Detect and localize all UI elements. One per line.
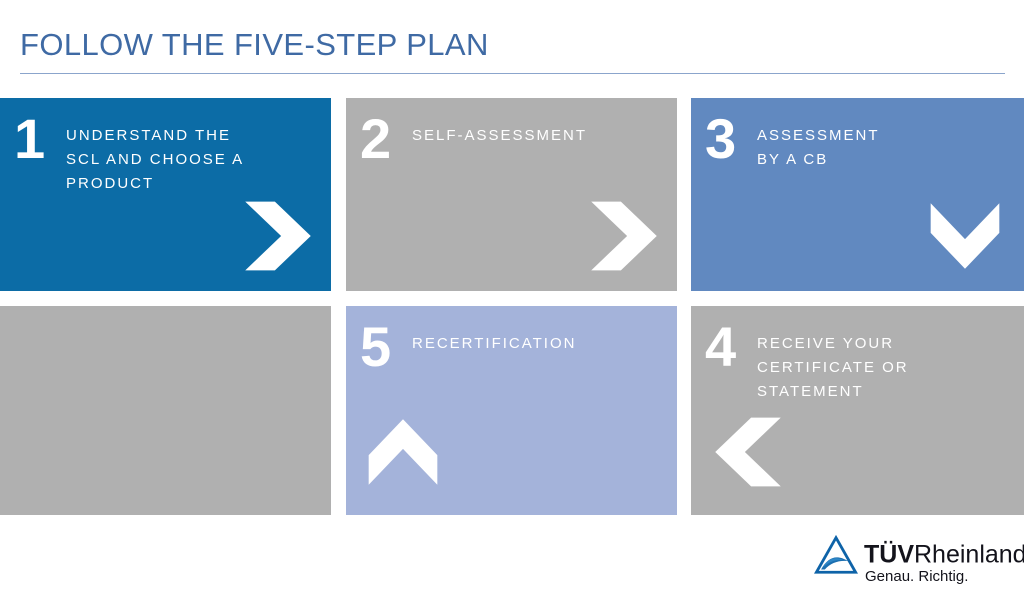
step-5-number: 5	[360, 320, 402, 374]
step-card-3[interactable]: 3 ASSESSMENT BY A CB	[691, 98, 1024, 291]
step-5-label: RECERTIFICATION	[402, 320, 576, 356]
step-3-label: ASSESSMENT BY A CB	[747, 112, 880, 172]
title-divider	[20, 73, 1005, 74]
brand-rheinland: Rheinland	[914, 540, 1024, 568]
brand-claim: Genau. Richtig.	[865, 568, 968, 586]
step-card-5[interactable]: 5 RECERTIFICATION	[346, 306, 677, 515]
brand-logo: TÜVRheinland® Genau. Richtig.	[812, 532, 1012, 594]
header: FOLLOW THE FIVE-STEP PLAN	[20, 26, 1005, 86]
step-2-number: 2	[360, 112, 402, 166]
tuv-rheinland-triangle-icon	[812, 534, 860, 576]
step-4-number: 4	[705, 320, 747, 374]
infographic-slide: FOLLOW THE FIVE-STEP PLAN 1 UNDERSTAND T…	[0, 0, 1024, 610]
step-2-label: SELF-ASSESSMENT	[402, 112, 587, 148]
step-4-head: 4 RECEIVE YOUR CERTIFICATE OR STATEMENT	[705, 320, 1010, 404]
chevron-down-icon	[926, 197, 1004, 275]
steps-grid: 1 UNDERSTAND THE SCL AND CHOOSE A PRODUC…	[0, 98, 1024, 515]
step-2-head: 2 SELF-ASSESSMENT	[360, 112, 663, 166]
step-card-1[interactable]: 1 UNDERSTAND THE SCL AND CHOOSE A PRODUC…	[0, 98, 331, 291]
step-5-head: 5 RECERTIFICATION	[360, 320, 663, 374]
page-title: FOLLOW THE FIVE-STEP PLAN	[20, 26, 1005, 64]
chevron-left-icon	[709, 413, 787, 491]
spacer-block	[0, 306, 331, 515]
step-1-number: 1	[14, 112, 56, 166]
step-1-label: UNDERSTAND THE SCL AND CHOOSE A PRODUCT	[56, 112, 244, 196]
step-3-head: 3 ASSESSMENT BY A CB	[705, 112, 1010, 172]
brand-tuv: TÜV	[864, 540, 914, 568]
chevron-right-icon	[585, 197, 663, 275]
step-1-head: 1 UNDERSTAND THE SCL AND CHOOSE A PRODUC…	[14, 112, 317, 196]
step-4-label: RECEIVE YOUR CERTIFICATE OR STATEMENT	[747, 320, 909, 404]
step-card-2[interactable]: 2 SELF-ASSESSMENT	[346, 98, 677, 291]
step-card-4[interactable]: 4 RECEIVE YOUR CERTIFICATE OR STATEMENT	[691, 306, 1024, 515]
step-3-number: 3	[705, 112, 747, 166]
chevron-up-icon	[364, 413, 442, 491]
brand-wordmark: TÜVRheinland®	[864, 536, 1024, 568]
chevron-right-icon	[239, 197, 317, 275]
